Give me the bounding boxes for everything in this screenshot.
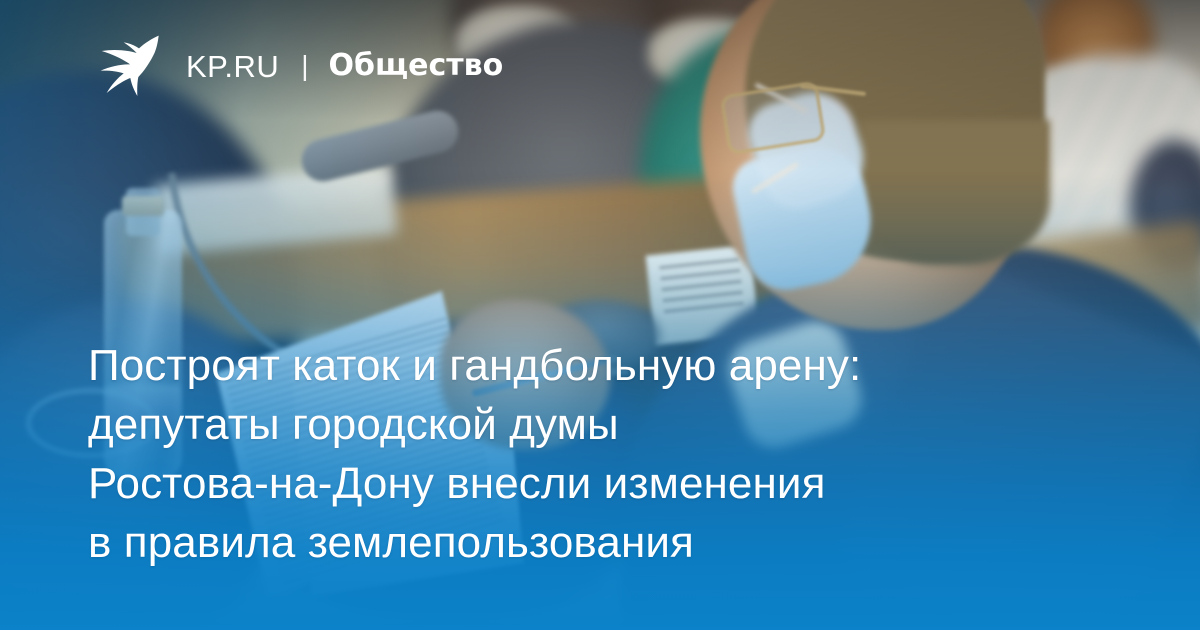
brand-row: KP.RU | Общество (162, 51, 503, 82)
article-headline: Построят каток и гандбольную арену: депу… (88, 336, 1108, 572)
share-card: KP.RU | Общество Построят каток и гандбо… (0, 0, 1200, 630)
headline-line-1: Построят каток и гандбольную арену: (88, 336, 1108, 395)
brand-name[interactable]: KP.RU (186, 51, 279, 82)
brand-separator: | (301, 52, 308, 80)
headline-line-2: депутаты городской думы (88, 395, 1108, 454)
headline-line-4: в правила землепользования (88, 513, 1108, 572)
headline-line-3: Ростова-на-Дону внесли изменения (88, 454, 1108, 513)
kp-swallow-bird-logo-icon[interactable] (92, 34, 162, 98)
rubric-label[interactable]: Общество (329, 51, 504, 81)
card-header: KP.RU | Общество (92, 34, 503, 98)
